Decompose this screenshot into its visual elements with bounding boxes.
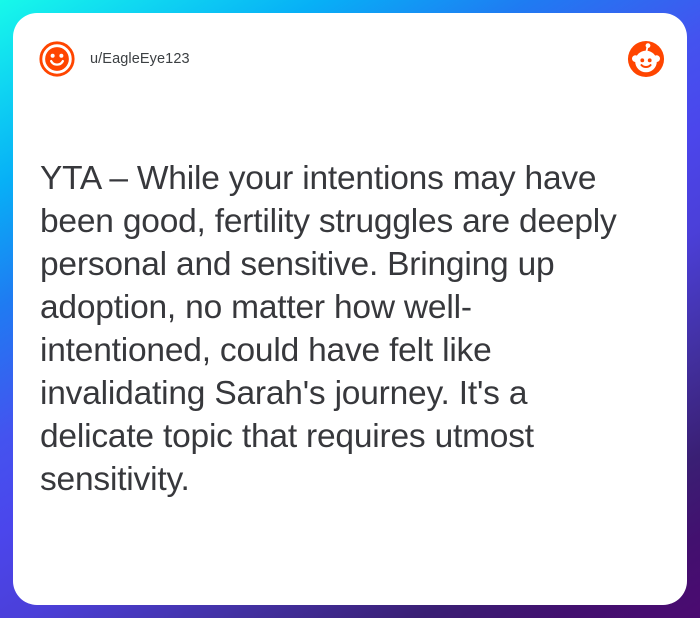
reddit-snoo-icon (627, 40, 665, 78)
card-header: u/EagleEye123 (13, 13, 687, 105)
smiley-face-avatar-icon (38, 40, 76, 78)
post-body-text: YTA – While your intentions may have bee… (40, 157, 640, 501)
screenshot-stage: u/EagleEye123 YTA – While your intention… (0, 0, 700, 618)
reddit-comment-card: u/EagleEye123 YTA – While your intention… (13, 13, 687, 605)
username-label: u/EagleEye123 (90, 51, 190, 67)
